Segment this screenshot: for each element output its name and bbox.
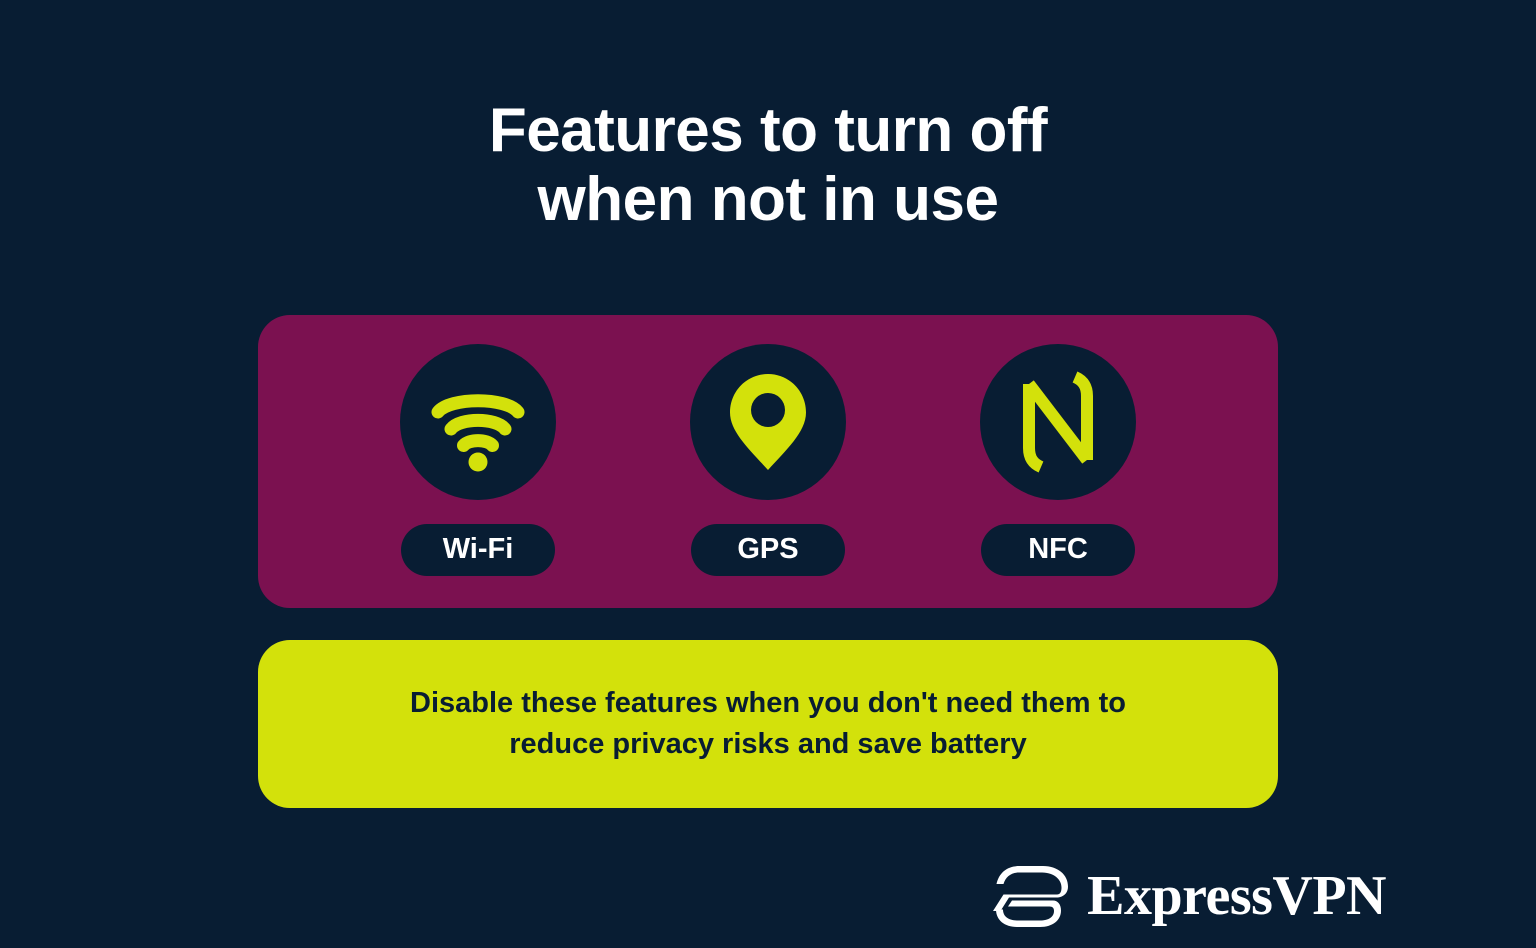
location-pin-icon	[720, 370, 816, 474]
feature-label-nfc: NFC	[981, 524, 1135, 576]
features-panel: Wi-Fi GPS	[258, 315, 1278, 608]
caption-line-2: reduce privacy risks and save battery	[410, 724, 1126, 765]
wifi-icon	[426, 370, 530, 474]
expressvpn-logo: ExpressVPN	[991, 864, 1386, 928]
feature-item-gps[interactable]: GPS	[690, 344, 846, 576]
caption-line-1: Disable these features when you don't ne…	[410, 683, 1126, 724]
expressvpn-e-mark-icon	[991, 864, 1069, 928]
feature-item-nfc[interactable]: NFC	[980, 344, 1136, 576]
expressvpn-wordmark: ExpressVPN	[1087, 868, 1386, 924]
feature-list: Wi-Fi GPS	[258, 315, 1278, 608]
nfc-icon-badge	[980, 344, 1136, 500]
caption-text: Disable these features when you don't ne…	[370, 683, 1166, 765]
page-title-line-2: when not in use	[0, 165, 1536, 234]
location-pin-icon-badge	[690, 344, 846, 500]
nfc-icon	[1012, 370, 1104, 474]
wifi-icon-badge	[400, 344, 556, 500]
feature-label-gps: GPS	[691, 524, 845, 576]
page-title: Features to turn off when not in use	[0, 96, 1536, 235]
feature-label-wifi: Wi-Fi	[401, 524, 555, 576]
page-title-line-1: Features to turn off	[0, 96, 1536, 165]
caption-panel: Disable these features when you don't ne…	[258, 640, 1278, 808]
feature-item-wifi[interactable]: Wi-Fi	[400, 344, 556, 576]
